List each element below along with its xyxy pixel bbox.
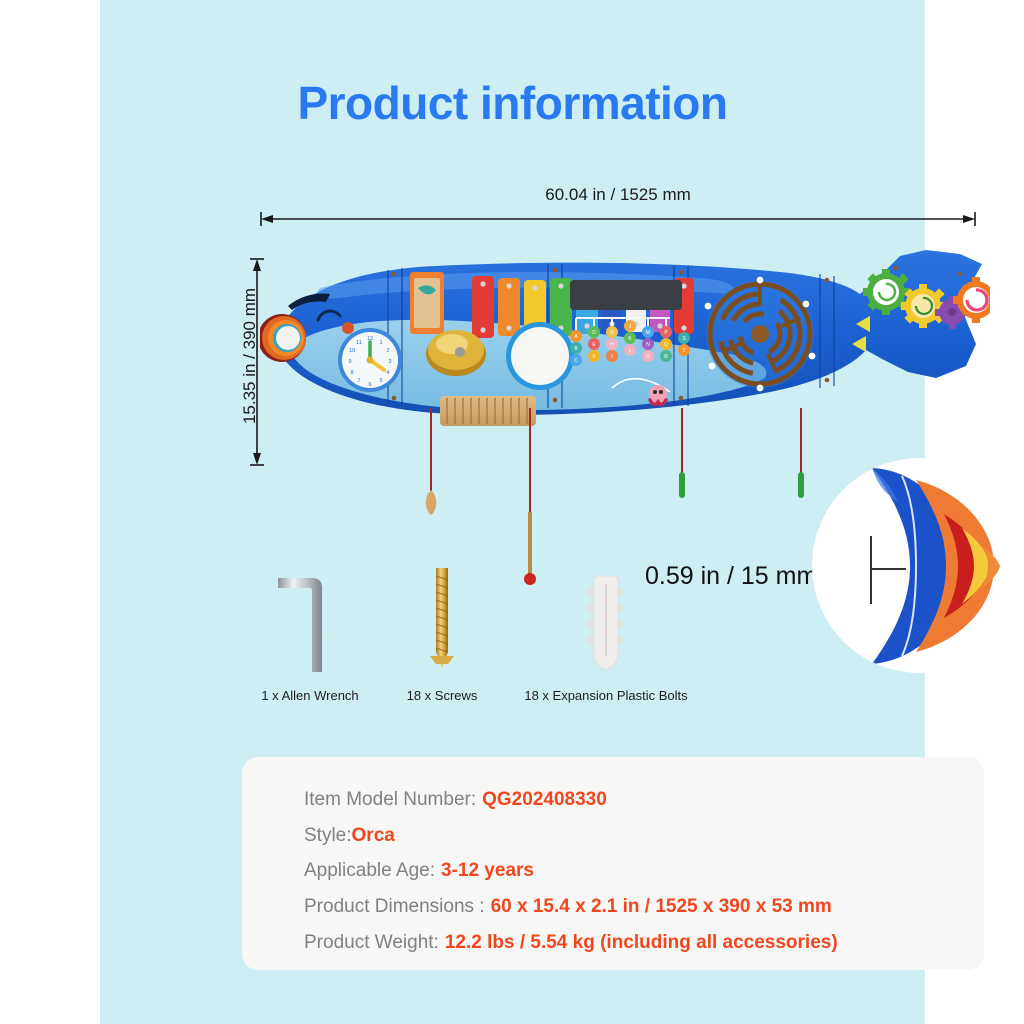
spec-value: 60 x 15.4 x 2.1 in / 1525 x 390 x 53 mm (491, 894, 832, 920)
thickness-tick-horizontal (870, 568, 906, 570)
thickness-detail-circle (812, 458, 1024, 673)
green-tip-icon (797, 472, 805, 500)
content-panel: Product information 60.04 in / 1525 mm 1… (100, 0, 925, 1024)
expansion-bolt-icon (562, 560, 650, 680)
spec-row-style: Style: Orca (304, 823, 964, 849)
spec-row-model-number: Item Model Number: QG202408330 (304, 787, 964, 813)
svg-text:M: M (646, 330, 650, 336)
brass-bell (426, 330, 486, 376)
svg-text:4: 4 (386, 370, 389, 376)
width-arrow-icon (260, 212, 976, 226)
accessory-label: 18 x Expansion Plastic Bolts (524, 688, 687, 703)
wooden-sliding-block (410, 272, 444, 334)
spec-label: Product Dimensions : (304, 894, 485, 920)
svg-text:O: O (646, 354, 650, 360)
hanging-beater-stick (524, 408, 536, 586)
spec-value: QG202408330 (482, 787, 607, 813)
spec-label: Item Model Number: (304, 787, 476, 813)
width-dimension: 60.04 in / 1525 mm (260, 185, 976, 225)
svg-text:R: R (664, 354, 668, 360)
chalkboard (570, 280, 682, 310)
spec-label: Style: (304, 823, 352, 849)
svg-text:N: N (646, 342, 650, 348)
svg-text:H: H (610, 342, 614, 348)
svg-text:I: I (611, 354, 612, 360)
whale-activity-board: 123 69 12 45 78 1011 (260, 248, 990, 468)
hanging-green-stick-2 (797, 408, 805, 503)
spec-value: Orca (352, 823, 395, 849)
thickness-tick-vertical (870, 536, 872, 604)
accessory-label: 1 x Allen Wrench (261, 688, 358, 703)
svg-text:L: L (629, 348, 632, 354)
mallet-head-icon (422, 488, 440, 518)
svg-text:Q: Q (664, 342, 668, 348)
accessory-allen-wrench: 1 x Allen Wrench (260, 560, 360, 720)
svg-text:11: 11 (356, 340, 362, 346)
spec-row-dimensions: Product Dimensions : 60 x 15.4 x 2.1 in … (304, 894, 964, 920)
svg-text:2: 2 (386, 348, 389, 354)
height-dimension: 15.35 in / 390 mm (218, 258, 264, 466)
page-title: Product information (100, 76, 925, 130)
hanging-mallet (422, 408, 440, 518)
svg-text:6: 6 (368, 382, 371, 388)
hanging-green-stick-1 (678, 408, 686, 503)
svg-text:7: 7 (357, 378, 360, 384)
green-tip-icon (678, 472, 686, 500)
svg-text:8: 8 (350, 370, 353, 376)
wooden-guiro (440, 396, 536, 426)
specification-card: Item Model Number: QG202408330 Style: Or… (242, 757, 984, 970)
svg-text:F: F (592, 354, 595, 360)
svg-text:G: G (610, 330, 614, 336)
spec-value: 12.2 lbs / 5.54 kg (including all access… (445, 930, 838, 956)
svg-text:3: 3 (388, 359, 391, 365)
svg-text:1: 1 (379, 340, 382, 346)
thickness-label: 0.59 in / 15 mm (645, 562, 817, 591)
screw-icon (400, 560, 484, 680)
svg-text:D: D (592, 330, 596, 336)
spec-row-applicable-age: Applicable Age: 3-12 years (304, 858, 964, 884)
spec-row-weight: Product Weight: 12.2 lbs / 5.54 kg (incl… (304, 930, 964, 956)
specification-list: Item Model Number: QG202408330 Style: Or… (304, 787, 964, 965)
spinner-eye-icon (260, 314, 306, 362)
svg-text:T: T (682, 348, 685, 354)
accessory-label: 18 x Screws (407, 688, 478, 703)
spec-value: 3-12 years (441, 858, 534, 884)
accessory-screws: 18 x Screws (400, 560, 484, 720)
beater-ball-icon (524, 572, 536, 586)
svg-text:5: 5 (379, 378, 382, 384)
white-drum (506, 322, 574, 390)
spec-label: Product Weight: (304, 930, 439, 956)
clock-face: 123 69 12 45 78 1011 (338, 328, 402, 392)
whale-illustration: 123 69 12 45 78 1011 (260, 248, 990, 468)
svg-text:C: C (574, 358, 578, 364)
board-cross-section (812, 458, 1024, 673)
product-information-page: Product information 60.04 in / 1525 mm 1… (0, 0, 1024, 1024)
svg-text:9: 9 (348, 359, 351, 365)
accessory-expansion-bolts: 18 x Expansion Plastic Bolts (562, 560, 650, 720)
svg-text:10: 10 (349, 348, 355, 354)
allen-wrench-icon (260, 560, 360, 680)
width-dimension-label: 60.04 in / 1525 mm (260, 185, 976, 205)
spec-label: Applicable Age: (304, 858, 435, 884)
